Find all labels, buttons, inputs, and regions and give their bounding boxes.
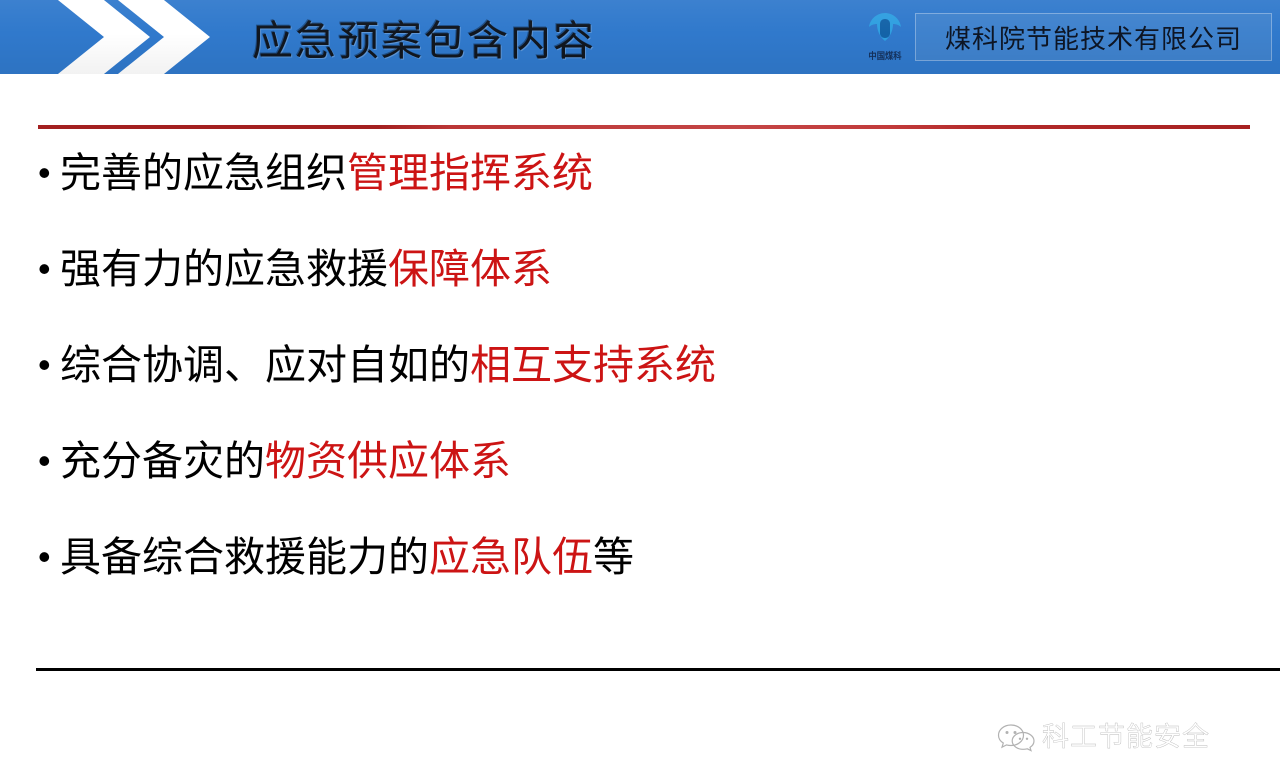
bullet-marker: • xyxy=(38,155,60,191)
bullet-segment: 应急队伍 xyxy=(429,534,593,580)
bullet-marker: • xyxy=(38,251,60,287)
wechat-icon xyxy=(996,721,1036,753)
brand-logo: 中国煤科 xyxy=(856,11,914,67)
coal-emblem-icon xyxy=(865,11,905,45)
bullet-segment: 综合协调、应对自如的 xyxy=(60,342,470,388)
bullet-item: •综合协调、应对自如的相互支持系统 xyxy=(0,342,1280,438)
bullet-segment: 物资供应体系 xyxy=(265,438,511,484)
bullet-item: •充分备灾的物资供应体系 xyxy=(0,438,1280,534)
bullet-item: •具备综合救援能力的应急队伍等 xyxy=(0,534,1280,630)
bullet-marker: • xyxy=(38,347,60,383)
company-name: 煤科院节能技术有限公司 xyxy=(945,19,1242,56)
watermark-text: 科工节能安全 xyxy=(1042,722,1210,752)
bullet-list: •完善的应急组织管理指挥系统•强有力的应急救援保障体系•综合协调、应对自如的相互… xyxy=(0,150,1280,630)
bullet-marker: • xyxy=(38,539,60,575)
bullet-segment: 相互支持系统 xyxy=(470,342,716,388)
footer-divider xyxy=(36,668,1280,671)
bullet-item: •完善的应急组织管理指挥系统 xyxy=(0,150,1280,246)
bullet-segment: 强有力的应急救援 xyxy=(60,246,388,292)
bullet-text: 具备综合救援能力的应急队伍等 xyxy=(60,534,634,580)
bullet-segment: 具备综合救援能力的 xyxy=(60,534,429,580)
slide-header-banner: 应急预案包含内容 中国煤科 煤科院节能技术有限公司 xyxy=(0,0,1280,74)
bullet-text: 完善的应急组织管理指挥系统 xyxy=(60,150,593,196)
watermark: 科工节能安全 xyxy=(996,717,1266,757)
bullet-text: 充分备灾的物资供应体系 xyxy=(60,438,511,484)
bullet-segment: 等 xyxy=(593,534,634,580)
bullet-segment: 管理指挥系统 xyxy=(347,150,593,196)
bullet-segment: 完善的应急组织 xyxy=(60,150,347,196)
bullet-segment: 保障体系 xyxy=(388,246,552,292)
bullet-marker: • xyxy=(38,443,60,479)
company-name-box: 煤科院节能技术有限公司 xyxy=(915,13,1272,61)
title-divider xyxy=(38,125,1250,129)
bullet-segment: 充分备灾的 xyxy=(60,438,265,484)
bullet-item: •强有力的应急救援保障体系 xyxy=(0,246,1280,342)
brand-caption: 中国煤科 xyxy=(858,51,911,62)
bullet-text: 综合协调、应对自如的相互支持系统 xyxy=(60,342,716,388)
slide-body: •完善的应急组织管理指挥系统•强有力的应急救援保障体系•综合协调、应对自如的相互… xyxy=(0,74,1280,720)
bullet-text: 强有力的应急救援保障体系 xyxy=(60,246,552,292)
